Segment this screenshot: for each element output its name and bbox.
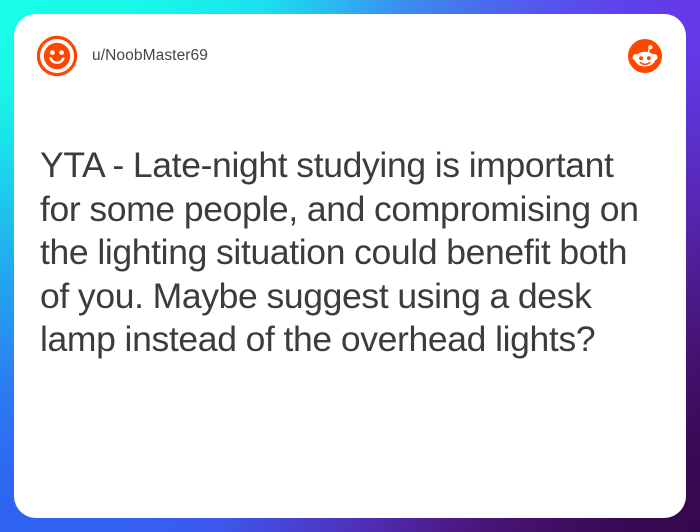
username-label: u/NoobMaster69 bbox=[92, 47, 208, 65]
smiley-face-icon[interactable] bbox=[36, 35, 78, 77]
screenshot-canvas: u/NoobMaster69 YTA - Late-night studying… bbox=[0, 0, 700, 532]
card-header: u/NoobMaster69 bbox=[14, 14, 686, 98]
card-body: YTA - Late-night studying is important f… bbox=[40, 144, 660, 362]
post-text: YTA - Late-night studying is important f… bbox=[40, 144, 660, 362]
reddit-snoo-icon[interactable] bbox=[628, 39, 662, 73]
reddit-comment-card: u/NoobMaster69 YTA - Late-night studying… bbox=[14, 14, 686, 518]
